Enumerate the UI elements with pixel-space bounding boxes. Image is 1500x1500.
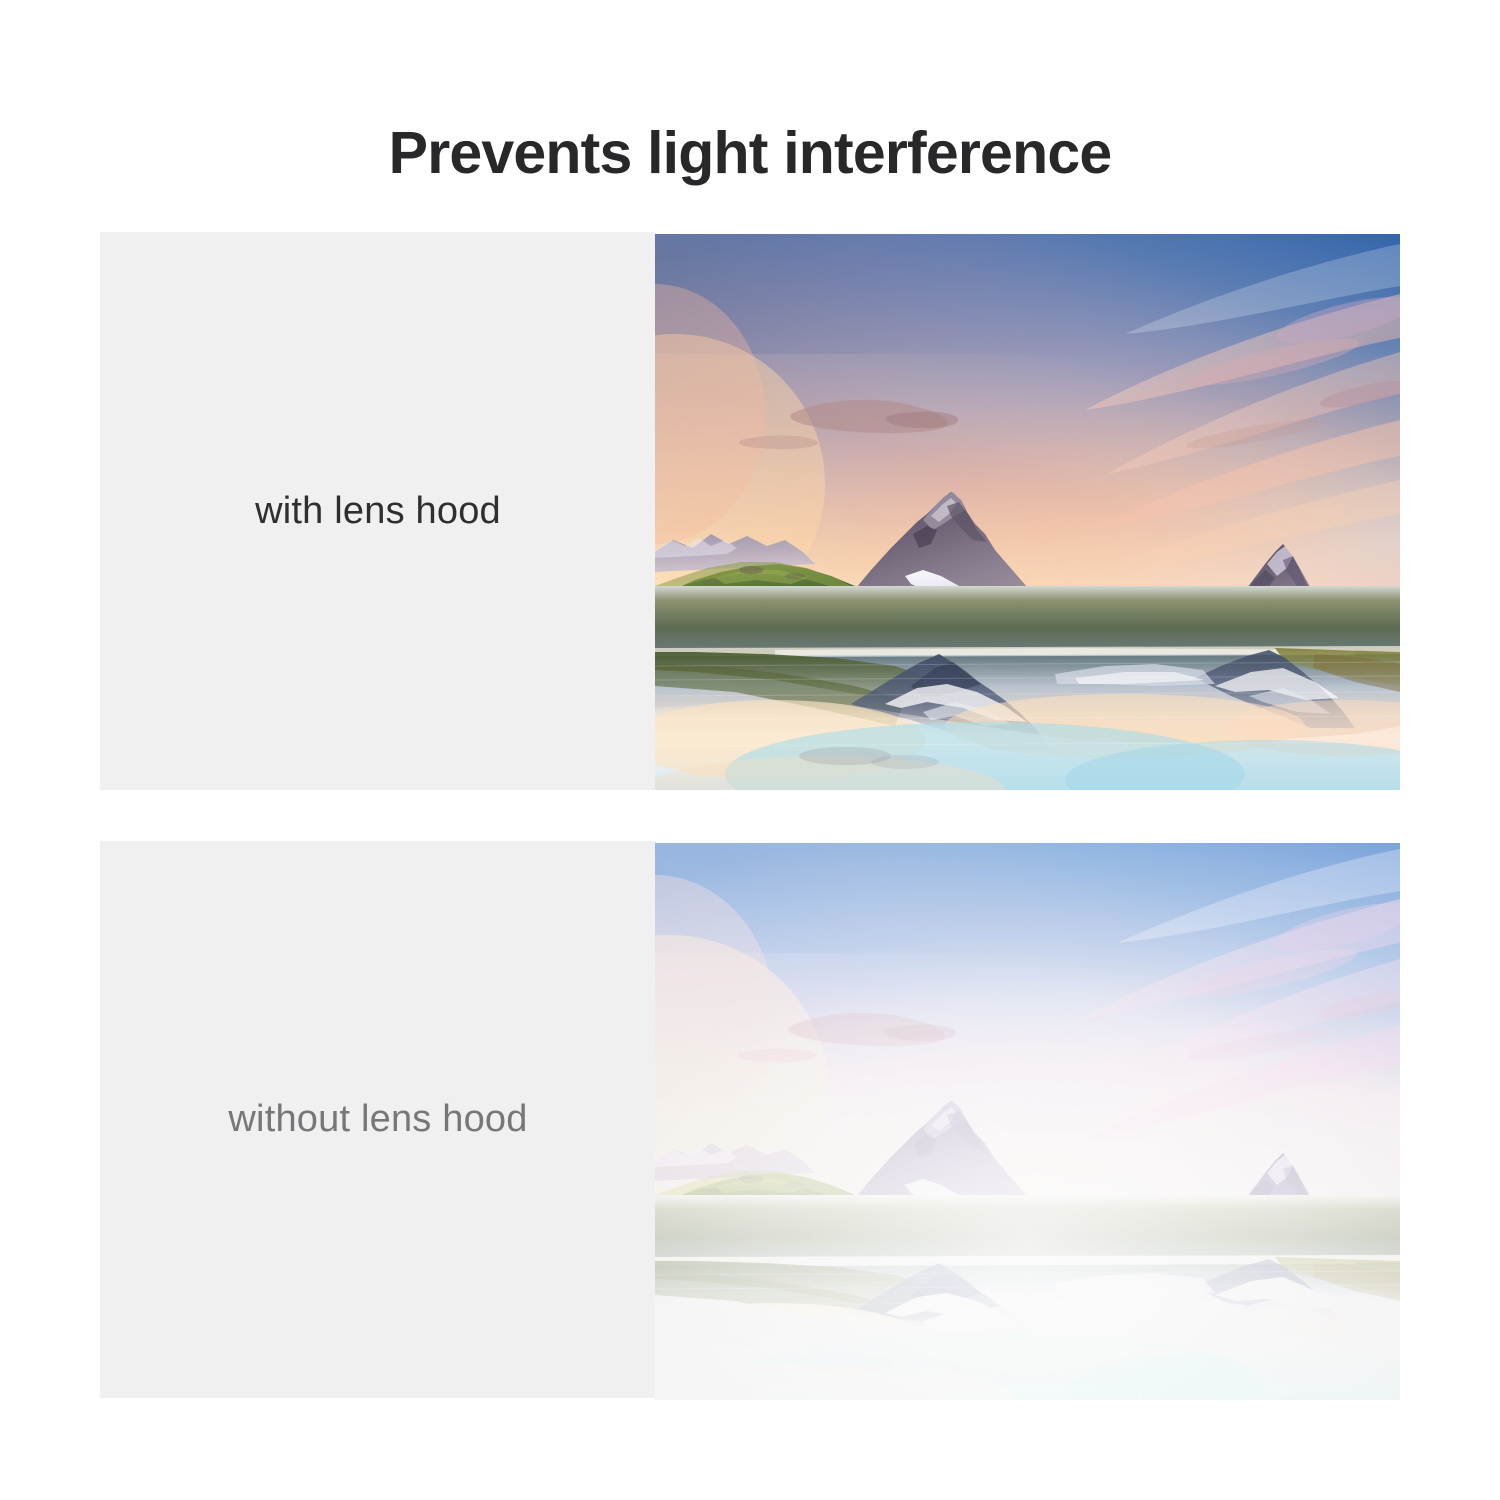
- photo-without-lens-hood: [655, 843, 1400, 1400]
- mountain-lake-scene-flared: [655, 843, 1400, 1400]
- photo-with-lens-hood: [655, 234, 1400, 790]
- label-panel-without-lens-hood: without lens hood: [100, 841, 656, 1398]
- page-title: Prevents light interference: [0, 119, 1500, 187]
- label-panel-with-lens-hood: with lens hood: [100, 232, 656, 790]
- comparison-row-with-lens-hood: with lens hood: [100, 232, 1400, 790]
- label-without-lens-hood: without lens hood: [228, 1098, 527, 1141]
- mountain-lake-scene-clear: [655, 234, 1400, 790]
- comparison-row-without-lens-hood: without lens hood: [100, 841, 1400, 1398]
- product-feature-page: Prevents light interference with lens ho…: [0, 0, 1500, 1500]
- label-with-lens-hood: with lens hood: [255, 490, 501, 533]
